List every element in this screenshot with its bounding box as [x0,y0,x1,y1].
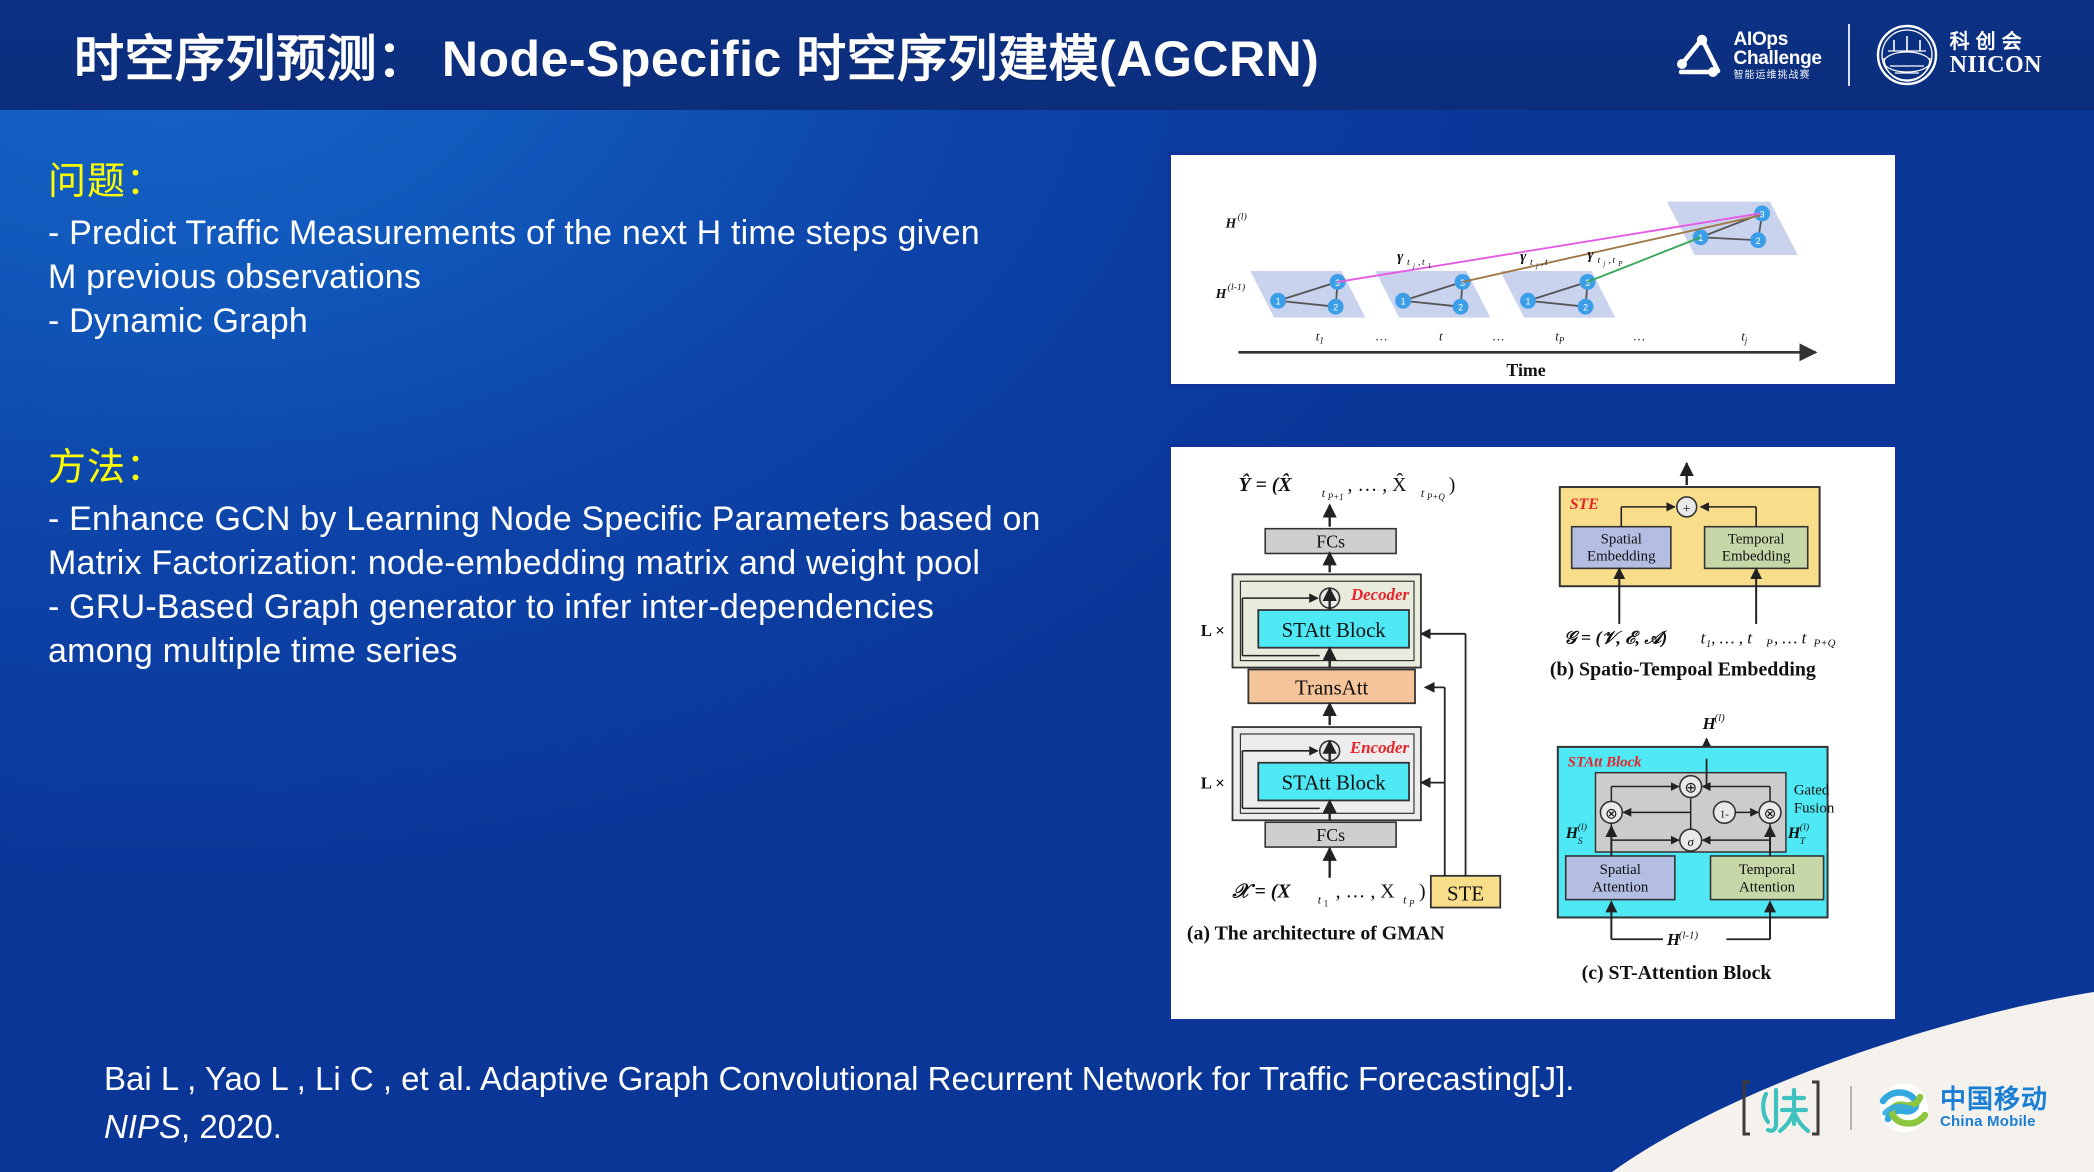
svg-text:Decoder: Decoder [1350,585,1409,604]
method-line-1: - Enhance GCN by Learning Node Specific … [48,497,1108,541]
svg-text:L ×: L × [1201,774,1225,793]
svg-text:, … , X: , … , X [1336,881,1395,903]
svg-text:t: t [1407,257,1410,268]
svg-text:⊗: ⊗ [1605,806,1617,822]
china-mobile-logo: 中国移动 China Mobile [1878,1083,2048,1133]
svg-text:t1: t1 [1316,329,1324,345]
problem-line-1: - Predict Traffic Measurements of the ne… [48,211,1108,255]
svg-text:tP: tP [1555,329,1565,345]
svg-text:t₁, … , t: t₁, … , t [1701,629,1754,648]
svg-text:γ: γ [1397,249,1404,265]
citation-venue: NIPS [104,1108,181,1145]
problem-body: - Predict Traffic Measurements of the ne… [48,211,1108,344]
svg-text:2: 2 [1583,303,1588,313]
svg-text:, … , X̂: , … , X̂ [1348,474,1407,496]
svg-text:H: H [1225,216,1238,231]
method-section: 方法： - Enhance GCN by Learning Node Speci… [48,436,1108,674]
niicon-chinese: 科创会 [1950,32,2042,53]
niicon-seal-icon [1876,24,1938,86]
svg-text:FCs: FCs [1316,825,1345,845]
svg-text:j: j [1535,262,1538,270]
svg-text:STAtt Block: STAtt Block [1568,755,1642,771]
svg-text:H: H [1565,825,1579,842]
svg-text:t: t [1612,255,1615,266]
aiops-challenge-logo: AIOps Challenge 智能运维挑战赛 [1673,30,1822,81]
china-mobile-english: China Mobile [1940,1114,2048,1130]
china-mobile-text: 中国移动 China Mobile [1940,1086,2048,1129]
niicon-text-block: 科创会 NIICON [1950,32,2042,78]
citation-text: Bai L , Yao L , Li C , et al. Adaptive G… [104,1055,1584,1151]
svg-text:γ: γ [1588,247,1595,263]
aiops-triangle-icon [1673,31,1725,79]
aiops-line1: AIOps [1734,30,1822,49]
gman-architecture-figure: Ŷ = (X̂ t P+1 , … , X̂ t P+Q ) FCs Decod… [1168,444,1898,1022]
china-mobile-chinese: 中国移动 [1940,1086,2048,1113]
svg-text:P+Q: P+Q [1426,492,1445,502]
svg-text:1: 1 [1428,262,1432,270]
svg-text:j: j [1412,262,1415,270]
svg-text:H: H [1215,287,1228,302]
slide-root: 时空序列预测： Node-Specific 时空序列建模(AGCRN) AIOp… [0,0,2094,1172]
niicon-english: NIICON [1950,53,2042,78]
svg-text:3: 3 [1585,278,1590,288]
jiutian-logo [1738,1076,1824,1140]
problem-line-2: M previous observations [48,255,1108,299]
svg-text:Fusion: Fusion [1794,800,1835,816]
footer-logo-group: 中国移动 China Mobile [1738,1076,2048,1140]
china-mobile-icon [1878,1083,1930,1133]
svg-text:STAtt Block: STAtt Block [1282,618,1387,642]
svg-text:t: t [1403,893,1407,907]
method-body: - Enhance GCN by Learning Node Specific … [48,497,1108,674]
svg-text:Ŷ = (X̂: Ŷ = (X̂ [1238,474,1292,496]
svg-text:1: 1 [1324,899,1328,909]
aiops-text-block: AIOps Challenge 智能运维挑战赛 [1734,30,1822,81]
section-spacer [48,344,1108,436]
svg-text:Embedding: Embedding [1722,548,1791,564]
svg-text:t: t [1422,257,1425,268]
svg-text:Attention: Attention [1739,880,1796,896]
svg-text:j: j [1602,260,1605,268]
svg-text:⊕: ⊕ [1684,781,1696,797]
svg-text:STE: STE [1570,496,1599,513]
niicon-logo: 科创会 NIICON [1876,24,2042,86]
method-line-4: among multiple time series [48,629,1108,673]
citation-part1: Bai L , Yao L , Li C , et al. Adaptive G… [104,1060,1574,1097]
jiutian-logo-icon [1738,1076,1824,1140]
svg-text:H: H [1787,825,1801,842]
svg-text:Time: Time [1506,360,1545,380]
svg-text:…: … [1375,329,1388,343]
svg-text:tj: tj [1741,329,1748,345]
svg-text:1: 1 [1401,297,1406,307]
method-line-2: Matrix Factorization: node-embedding mat… [48,541,1108,585]
aiops-line2: Challenge [1734,49,1822,68]
svg-text:(l-1): (l-1) [1679,929,1699,941]
svg-text:STAtt Block: STAtt Block [1282,771,1387,795]
svg-text:…: … [1492,329,1505,343]
problem-line-3: - Dynamic Graph [48,299,1108,343]
footer-logo-divider [1850,1086,1852,1130]
slide-header: 时空序列预测： Node-Specific 时空序列建模(AGCRN) AIOp… [0,0,2094,110]
svg-text:P: P [1408,899,1415,909]
svg-text:STE: STE [1447,882,1484,906]
svg-text:t: t [1597,255,1600,266]
svg-text:σ: σ [1688,835,1695,849]
svg-text:S: S [1578,836,1583,847]
svg-text:FCs: FCs [1316,532,1345,552]
svg-text:t: t [1439,329,1443,343]
svg-text:Attention: Attention [1592,880,1649,896]
header-logo-divider [1848,24,1850,86]
svg-text:…: … [1633,329,1646,343]
svg-text:𝒢 = (𝒱, ℰ, 𝒜): 𝒢 = (𝒱, ℰ, 𝒜) [1564,628,1668,649]
svg-text:P+1: P+1 [1327,492,1344,502]
svg-text:3: 3 [1760,209,1765,219]
svg-text:): ) [1419,881,1426,903]
dynamic-graph-figure: H (l) H (l-1) 1 2 3 [1168,152,1898,387]
svg-text:t: t [1318,893,1322,907]
svg-text:(l-1): (l-1) [1228,282,1246,293]
dynamic-graph-svg: H (l) H (l-1) 1 2 3 [1171,155,1895,384]
svg-text:Temporal: Temporal [1739,862,1796,878]
svg-text:(c) ST-Attention Block: (c) ST-Attention Block [1582,962,1772,984]
svg-text:P: P [1617,260,1623,268]
svg-text:, … t: , … t [1774,629,1808,648]
problem-section: 问题： - Predict Traffic Measurements of th… [48,150,1108,344]
svg-text:,: , [1418,257,1420,268]
svg-text:3: 3 [1335,278,1340,288]
page-title: 时空序列预测： Node-Specific 时空序列建模(AGCRN) [74,19,1319,91]
gman-architecture-svg: Ŷ = (X̂ t P+1 , … , X̂ t P+Q ) FCs Decod… [1171,447,1895,1019]
svg-text:𝒳 = (X: 𝒳 = (X [1231,881,1291,903]
citation-part2: , 2020. [181,1108,282,1145]
method-heading: 方法： [48,436,1108,491]
svg-text:t: t [1421,486,1425,500]
svg-text:3: 3 [1460,278,1465,288]
svg-text:Temporal: Temporal [1728,532,1785,548]
aiops-subtitle: 智能运维挑战赛 [1734,71,1822,81]
svg-text:(l): (l) [1237,211,1246,222]
svg-text:+: + [1683,502,1691,517]
svg-text:⊗: ⊗ [1764,806,1776,822]
svg-text:(l): (l) [1800,822,1809,833]
svg-text:t: t [1545,257,1548,268]
svg-text:Encoder: Encoder [1349,738,1409,757]
header-logo-group: AIOps Challenge 智能运维挑战赛 科创会 NIICON [1673,0,2042,110]
svg-text:TransAtt: TransAtt [1295,675,1368,699]
svg-text:2: 2 [1458,303,1463,313]
svg-text:2: 2 [1333,303,1338,313]
svg-text:(b) Spatio-Tempoal Embedding: (b) Spatio-Tempoal Embedding [1550,658,1816,680]
svg-text:1: 1 [1526,297,1531,307]
svg-text:(a) The architecture of GMAN: (a) The architecture of GMAN [1187,922,1445,944]
svg-text:Embedding: Embedding [1587,548,1656,564]
svg-text:Gated: Gated [1794,782,1830,798]
svg-text:Spatial: Spatial [1600,862,1641,878]
svg-text:1: 1 [1276,297,1281,307]
svg-text:2: 2 [1756,236,1761,246]
svg-text:γ: γ [1520,249,1527,265]
svg-text:(l): (l) [1578,822,1587,833]
svg-text:P: P [1765,638,1773,650]
svg-text:Spatial: Spatial [1601,532,1642,548]
svg-text:t: t [1322,486,1326,500]
method-line-3: - GRU-Based Graph generator to infer int… [48,585,1108,629]
svg-text:1-: 1- [1720,808,1729,820]
problem-heading: 问题： [48,150,1108,205]
svg-text:t: t [1530,257,1533,268]
svg-text:): ) [1449,474,1456,496]
svg-text:(l): (l) [1714,712,1725,724]
svg-text:P+Q: P+Q [1813,638,1836,650]
svg-text:,: , [1541,257,1543,268]
svg-text:L ×: L × [1201,621,1225,640]
svg-text:,: , [1608,255,1610,266]
left-content-column: 问题： - Predict Traffic Measurements of th… [48,150,1108,673]
